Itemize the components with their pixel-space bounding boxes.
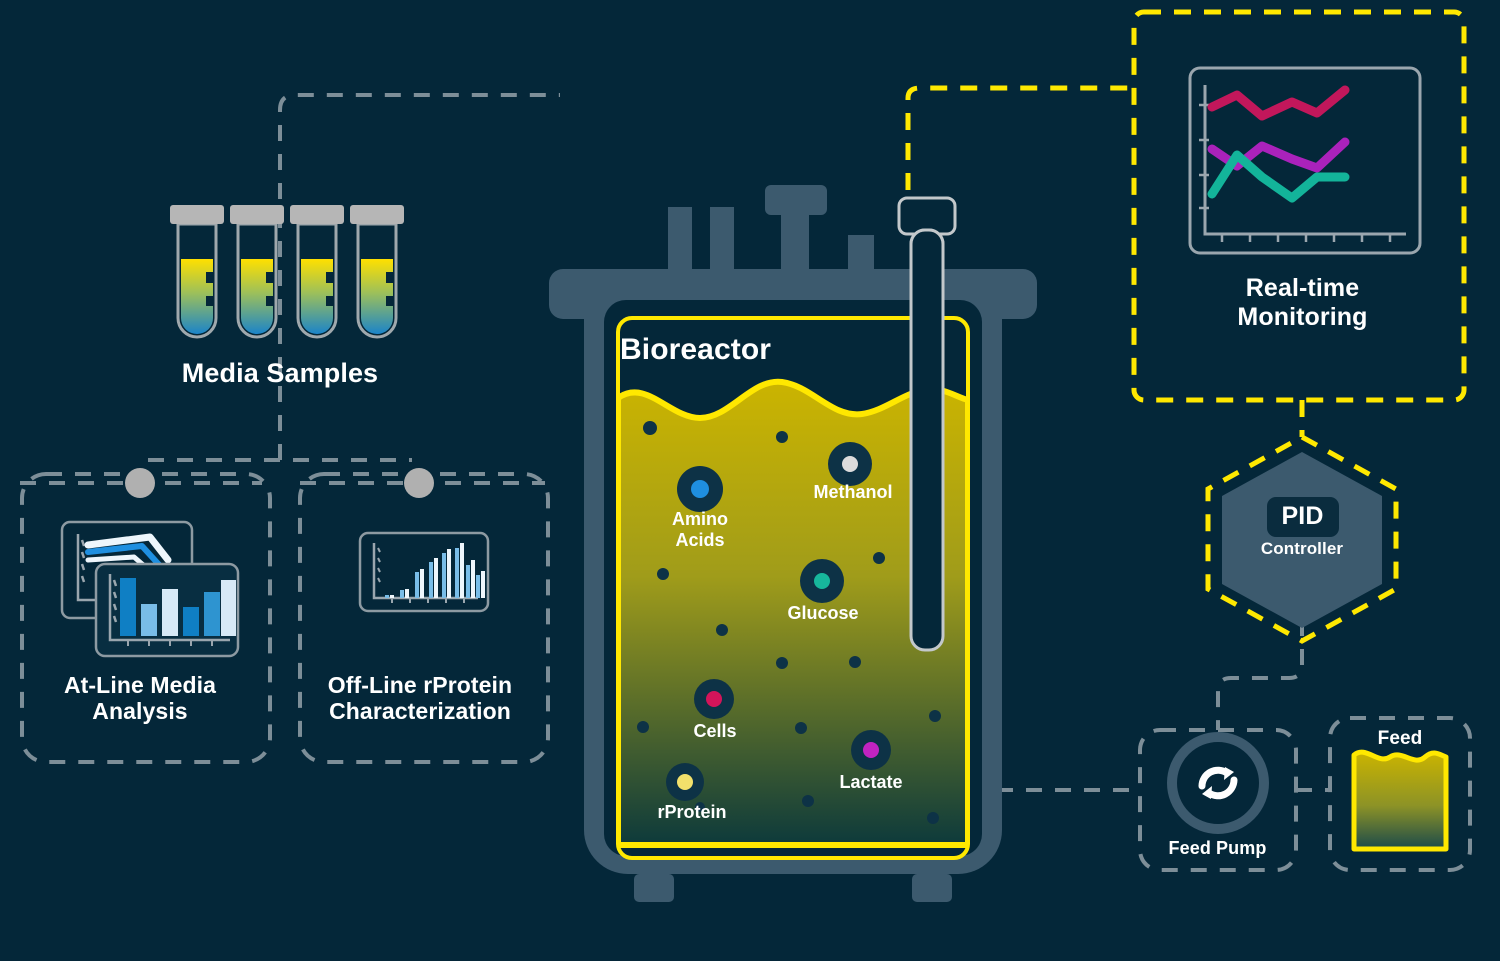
off-line-label: Off-Line rProtein Characterization [290,672,550,724]
test-tube [290,205,344,337]
port-tube-1 [668,207,692,269]
at-line-label-line1: At-Line Media [10,672,270,698]
pid-badge-label: PID [1255,502,1350,531]
port-stub [848,235,874,269]
off-line-label-line1: Off-Line rProtein [290,672,550,698]
vessel-leg-left [634,874,674,902]
at-line-label: At-Line Media Analysis [10,672,270,724]
test-tube [170,205,224,337]
real-time-label-line2: Monitoring [1150,303,1455,332]
refresh-cycle-icon [1202,767,1234,799]
at-line-label-line2: Analysis [10,698,270,724]
real-time-label-line1: Real-time [1150,274,1455,303]
sensor-probe-front [911,230,943,650]
feed-pump[interactable] [1172,737,1264,829]
molecule-label-line1: Amino [620,509,780,530]
vessel-leg-right [912,874,952,902]
diagram-canvas: Media Samples At-Line Media Analysis Off… [0,0,1500,961]
bioreactor-label: Bioreactor [620,333,880,367]
at-line-chart-icon [62,522,238,656]
media-sample-tubes [170,205,404,337]
junction-node-atline [125,468,155,498]
port-tube-2 [710,207,734,269]
molecule-label-amino-acids: Amino Acids [620,509,780,550]
real-time-label: Real-time Monitoring [1150,274,1455,331]
junction-node-offline [404,468,434,498]
pid-controller-label: Controller [1222,539,1382,558]
molecule-label-lactate: Lactate [810,772,932,793]
connector-probe-to-monitoring [908,88,1138,190]
feed-label: Feed [1330,728,1470,750]
test-tube [230,205,284,337]
media-samples-label: Media Samples [110,358,450,389]
molecule-label-glucose: Glucose [758,603,888,624]
feed-pump-label: Feed Pump [1135,838,1300,859]
connector-pid-to-feedpump [1218,620,1302,730]
off-line-spectrum-icon [360,533,488,611]
molecule-label-rprotein: rProtein [632,802,752,823]
real-time-chart-icon [1190,68,1420,253]
test-tube [350,205,404,337]
molecule-label-line2: Acids [620,530,780,551]
molecule-label-methanol: Methanol [778,482,928,503]
port-tube-3 [781,205,809,269]
feed-container [1354,752,1446,849]
molecule-label-cells: Cells [660,721,770,742]
off-line-label-line2: Characterization [290,698,550,724]
